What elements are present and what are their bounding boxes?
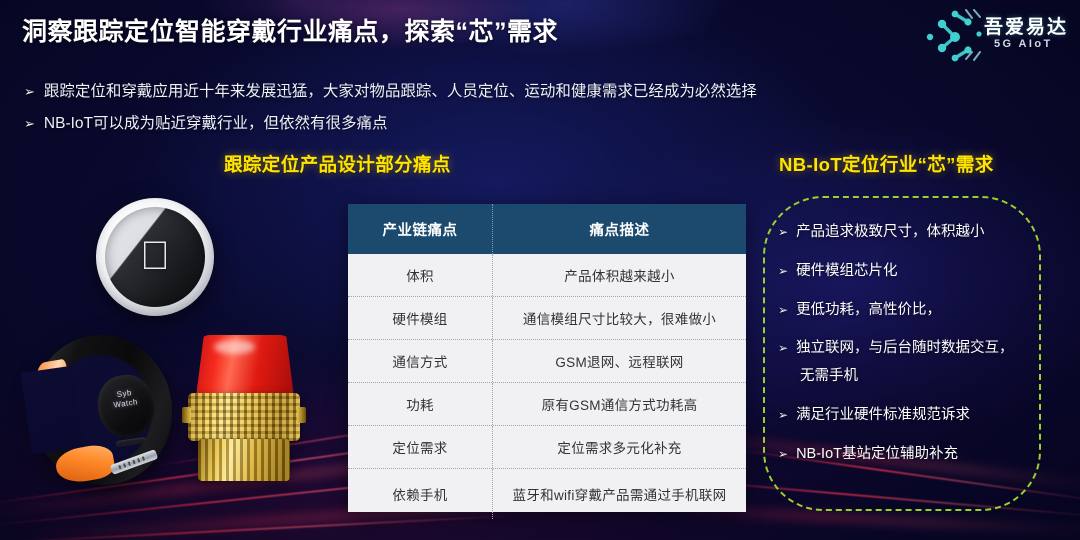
need-item-text: 满足行业硬件标准规范诉求 xyxy=(796,405,970,427)
network-dots-icon xyxy=(922,4,988,66)
need-item: ➢ NB-IoT基站定位辅助补充 xyxy=(778,444,1040,466)
need-item-text: 更低功耗，高性价比， xyxy=(796,300,941,322)
device-tab-right xyxy=(297,407,306,423)
need-item-text: 硬件模组芯片化 xyxy=(796,261,898,283)
logo-tagline: 5G AIoT xyxy=(994,38,1053,50)
cell-description: 定位需求多元化补充 xyxy=(492,426,746,468)
intro-bullet-2: ➢ NB-IoT可以成为贴近穿戴行业，但依然有很多痛点 xyxy=(24,114,964,135)
arrow-bullet-icon: ➢ xyxy=(24,114,35,134)
left-section-title: 跟踪定位产品设计部分痛点 xyxy=(224,151,451,177)
apple-airtag-image:  xyxy=(96,198,214,316)
arrow-bullet-icon: ➢ xyxy=(778,300,788,321)
cell-pain-point: 通信方式 xyxy=(348,340,492,382)
need-item: ➢ 满足行业硬件标准规范诉求 xyxy=(778,405,1040,427)
brand-logo: 吾爱易达 5G AIoT xyxy=(922,4,1072,66)
page-title: 洞察跟踪定位智能穿戴行业痛点，探索“芯”需求 xyxy=(22,12,558,48)
arrow-bullet-icon: ➢ xyxy=(778,444,788,465)
need-item-text: 独立联网，与后台随时数据交互， xyxy=(796,338,1014,360)
needs-list: ➢ 产品追求极致尺寸，体积越小 ➢ 硬件模组芯片化 ➢ 更低功耗，高性价比， ➢… xyxy=(778,222,1040,482)
arrow-bullet-icon: ➢ xyxy=(24,82,35,102)
apple-logo-icon:  xyxy=(140,236,170,276)
cell-description: 通信模组尺寸比较大，很难做小 xyxy=(492,297,746,339)
cell-pain-point: 硬件模组 xyxy=(348,297,492,339)
intro-bullet-text: NB-IoT可以成为贴近穿戴行业，但依然有很多痛点 xyxy=(44,114,388,135)
need-item: ➢ 更低功耗，高性价比， xyxy=(778,300,1040,322)
cell-description: 产品体积越来越小 xyxy=(492,254,746,296)
bracelet-gap xyxy=(21,366,84,454)
need-item: ➢ 硬件模组芯片化 xyxy=(778,261,1040,283)
arrow-bullet-icon: ➢ xyxy=(778,261,788,282)
intro-bullet-1: ➢ 跟踪定位和穿戴应用近十年来发展迅猛，大家对物品跟踪、人员定位、运动和健康需求… xyxy=(24,82,964,103)
need-item-text: NB-IoT基站定位辅助补充 xyxy=(796,444,958,466)
slide-canvas: 洞察跟踪定位智能穿戴行业痛点，探索“芯”需求 xyxy=(0,0,1080,540)
arrow-bullet-icon: ➢ xyxy=(778,405,788,426)
device-gold-upper xyxy=(188,393,300,441)
need-item-continuation: 无需手机 xyxy=(800,366,1040,388)
red-gold-device-image xyxy=(182,335,306,485)
need-item: ➢ 产品追求极致尺寸，体积越小 xyxy=(778,222,1040,244)
pain-points-table: 产业链痛点 痛点描述 体积 产品体积越来越小 硬件模组 通信模组尺寸比较大，很难… xyxy=(348,204,746,512)
cell-description: 蓝牙和wifi穿戴产品需通过手机联网 xyxy=(492,469,746,519)
right-section-title: NB-IoT定位行业“芯”需求 xyxy=(779,151,994,177)
column-header-pain-point: 产业链痛点 xyxy=(348,204,492,254)
column-header-description: 痛点描述 xyxy=(492,204,746,254)
table-header-row: 产业链痛点 痛点描述 xyxy=(348,204,746,254)
logo-name: 吾爱易达 xyxy=(984,12,1068,39)
table-row: 通信方式 GSM退网、远程联网 xyxy=(348,340,746,383)
cell-pain-point: 定位需求 xyxy=(348,426,492,468)
smart-bracelet-image: SybWatch xyxy=(32,335,172,485)
intro-bullet-text: 跟踪定位和穿戴应用近十年来发展迅猛，大家对物品跟踪、人员定位、运动和健康需求已经… xyxy=(44,82,757,103)
cell-pain-point: 功耗 xyxy=(348,383,492,425)
cell-pain-point: 依赖手机 xyxy=(348,469,492,519)
device-tab-left xyxy=(182,407,191,423)
device-red-cap xyxy=(196,335,294,397)
device-gold-lower xyxy=(198,439,290,481)
table-row: 功耗 原有GSM通信方式功耗高 xyxy=(348,383,746,426)
arrow-bullet-icon: ➢ xyxy=(778,338,788,359)
need-item-text: 无需手机 xyxy=(800,366,858,388)
arrow-bullet-icon: ➢ xyxy=(778,222,788,243)
table-row: 依赖手机 蓝牙和wifi穿戴产品需通过手机联网 xyxy=(348,469,746,519)
table-row: 定位需求 定位需求多元化补充 xyxy=(348,426,746,469)
cell-pain-point: 体积 xyxy=(348,254,492,296)
table-row: 体积 产品体积越来越小 xyxy=(348,254,746,297)
need-item: ➢ 独立联网，与后台随时数据交互， xyxy=(778,338,1040,360)
cell-description: GSM退网、远程联网 xyxy=(492,340,746,382)
need-item-text: 产品追求极致尺寸，体积越小 xyxy=(796,222,985,244)
product-photo-group:  SybWatch xyxy=(0,185,340,515)
table-row: 硬件模组 通信模组尺寸比较大，很难做小 xyxy=(348,297,746,340)
intro-bullet-list: ➢ 跟踪定位和穿戴应用近十年来发展迅猛，大家对物品跟踪、人员定位、运动和健康需求… xyxy=(24,82,964,146)
cell-description: 原有GSM通信方式功耗高 xyxy=(492,383,746,425)
